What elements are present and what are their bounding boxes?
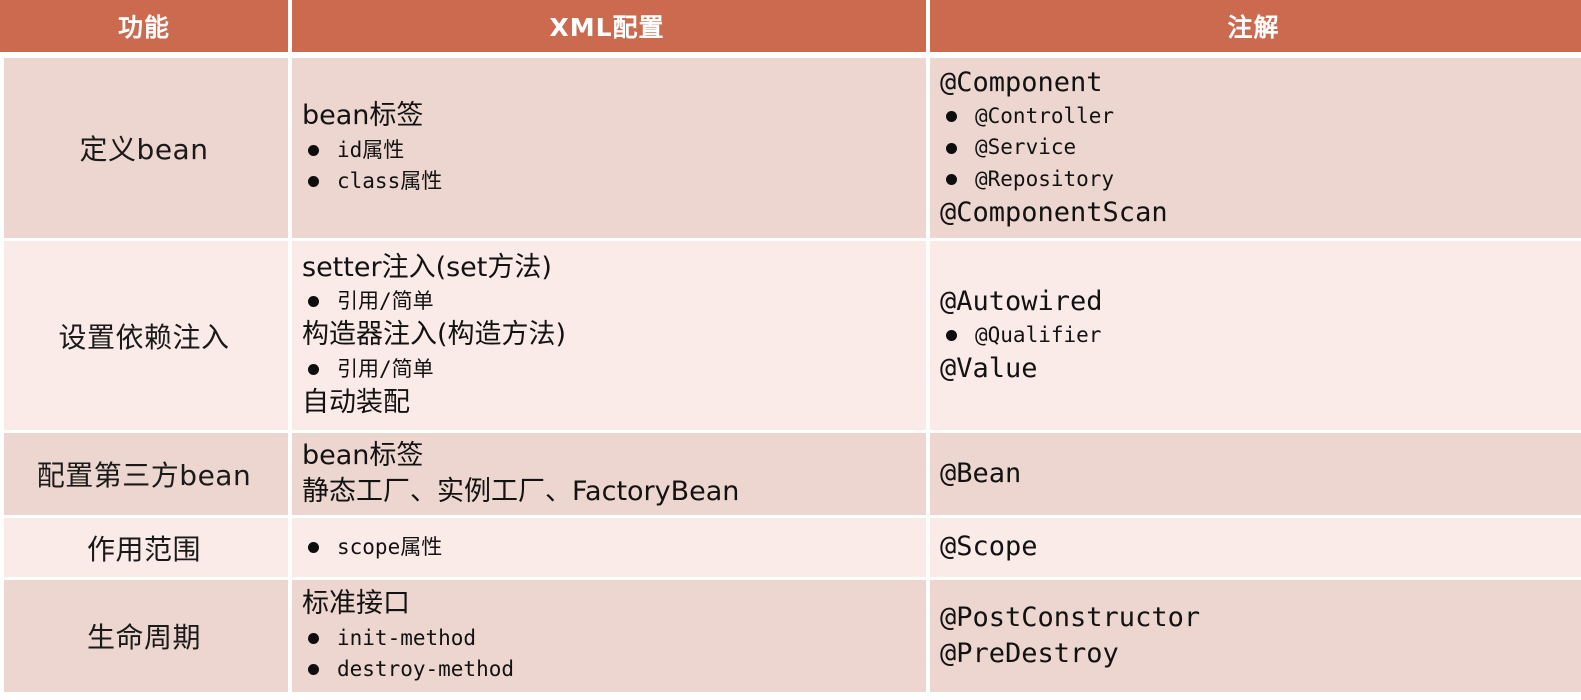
xml-bullet-list: id属性 class属性 (302, 135, 918, 198)
table-row: 定义bean bean标签 id属性 class属性 @Component @C… (0, 58, 1581, 241)
xml-bullet-list: scope属性 (302, 532, 918, 564)
list-item: id属性 (302, 135, 918, 167)
list-item: @Controller (940, 101, 1573, 133)
xml-trailing-line: 自动装配 (302, 385, 918, 421)
cell-feature: 设置依赖注入 (0, 241, 288, 430)
list-item: scope属性 (302, 532, 918, 564)
cell-annotation: @Scope (926, 518, 1581, 577)
annotation-line: @Autowired (940, 284, 1573, 320)
cell-annotation: @Component @Controller @Service @Reposit… (926, 58, 1581, 238)
xml-line: 标准接口 (302, 586, 918, 622)
list-item: @Qualifier (940, 320, 1573, 352)
list-item: @Repository (940, 164, 1573, 196)
xml-bullet-list: init-method destroy-method (302, 623, 918, 686)
list-item: init-method (302, 623, 918, 655)
list-item: 引用/简单 (302, 354, 918, 386)
column-header-xml-config-label: XML配置 (549, 8, 664, 44)
table-row: 设置依赖注入 setter注入(set方法) 引用/简单 构造器注入(构造方法)… (0, 241, 1581, 433)
xml-line: bean标签 (302, 438, 918, 474)
spring-comparison-table: 功能 XML配置 注解 定义bean bean标签 id属性 class属性 @… (0, 0, 1581, 700)
list-item-label: @Controller (975, 101, 1114, 133)
feature-label: 作用范围 (87, 528, 201, 568)
annotation-line: @Bean (940, 456, 1573, 492)
list-item-label: @Qualifier (975, 320, 1101, 352)
cell-xml-config: scope属性 (288, 518, 926, 577)
list-item: class属性 (302, 166, 918, 198)
table-header-row: 功能 XML配置 注解 (0, 0, 1581, 52)
list-item-label: id属性 (337, 135, 404, 167)
list-item-label: init-method (337, 623, 476, 655)
cell-annotation: @Bean (926, 433, 1581, 515)
xml-line-2: 构造器注入(构造方法) (302, 317, 918, 353)
xml-line: setter注入(set方法) (302, 250, 918, 286)
bullet-icon (308, 633, 319, 644)
list-item: @Service (940, 132, 1573, 164)
list-item-label: 引用/简单 (337, 354, 434, 386)
xml-line-2: 静态工厂、实例工厂、FactoryBean (302, 474, 918, 510)
cell-feature: 生命周期 (0, 580, 288, 692)
cell-annotation: @Autowired @Qualifier @Value (926, 241, 1581, 430)
list-item-label: class属性 (337, 166, 442, 198)
cell-annotation: @PostConstructor @PreDestroy (926, 580, 1581, 692)
table-row: 作用范围 scope属性 @Scope (0, 518, 1581, 580)
bullet-icon (308, 145, 319, 156)
column-header-annotation: 注解 (926, 0, 1581, 52)
bullet-icon (946, 143, 957, 154)
column-header-annotation-label: 注解 (1227, 8, 1279, 44)
annotation-trailing-line: @Value (940, 351, 1573, 387)
xml-bullet-list-2: 引用/简单 (302, 354, 918, 386)
list-item-label: 引用/简单 (337, 286, 434, 318)
cell-feature: 配置第三方bean (0, 433, 288, 515)
list-item: 引用/简单 (302, 286, 918, 318)
feature-label: 定义bean (80, 128, 209, 168)
column-header-feature-label: 功能 (118, 8, 170, 44)
cell-xml-config: bean标签 静态工厂、实例工厂、FactoryBean (288, 433, 926, 515)
table-row: 生命周期 标准接口 init-method destroy-method @Po… (0, 580, 1581, 692)
feature-label: 设置依赖注入 (58, 316, 229, 356)
bullet-icon (308, 664, 319, 675)
bullet-icon (946, 330, 957, 341)
list-item-label: scope属性 (337, 532, 442, 564)
bullet-icon (308, 364, 319, 375)
annotation-line: @Scope (940, 529, 1573, 565)
cell-xml-config: bean标签 id属性 class属性 (288, 58, 926, 238)
bullet-icon (946, 174, 957, 185)
cell-xml-config: setter注入(set方法) 引用/简单 构造器注入(构造方法) 引用/简单 … (288, 241, 926, 430)
list-item-label: @Repository (975, 164, 1114, 196)
list-item-label: destroy-method (337, 654, 514, 686)
table-body: 定义bean bean标签 id属性 class属性 @Component @C… (0, 58, 1581, 700)
xml-bullet-list: 引用/简单 (302, 286, 918, 318)
table-row: 配置第三方bean bean标签 静态工厂、实例工厂、FactoryBean @… (0, 433, 1581, 518)
xml-line: bean标签 (302, 98, 918, 134)
list-item: destroy-method (302, 654, 918, 686)
annotation-trailing-line: @ComponentScan (940, 195, 1573, 231)
column-header-feature: 功能 (0, 0, 288, 52)
bullet-icon (308, 296, 319, 307)
bullet-icon (308, 542, 319, 553)
feature-label: 配置第三方bean (37, 454, 251, 494)
feature-label: 生命周期 (87, 616, 201, 656)
annotation-bullet-list: @Controller @Service @Repository (940, 101, 1573, 196)
annotation-bullet-list: @Qualifier (940, 320, 1573, 352)
cell-feature: 作用范围 (0, 518, 288, 577)
cell-feature: 定义bean (0, 58, 288, 238)
bullet-icon (308, 176, 319, 187)
list-item-label: @Service (975, 132, 1076, 164)
annotation-line-2: @PreDestroy (940, 636, 1573, 672)
cell-xml-config: 标准接口 init-method destroy-method (288, 580, 926, 692)
column-header-xml-config: XML配置 (288, 0, 926, 52)
bullet-icon (946, 111, 957, 122)
annotation-line: @PostConstructor (940, 600, 1573, 636)
annotation-line: @Component (940, 65, 1573, 101)
